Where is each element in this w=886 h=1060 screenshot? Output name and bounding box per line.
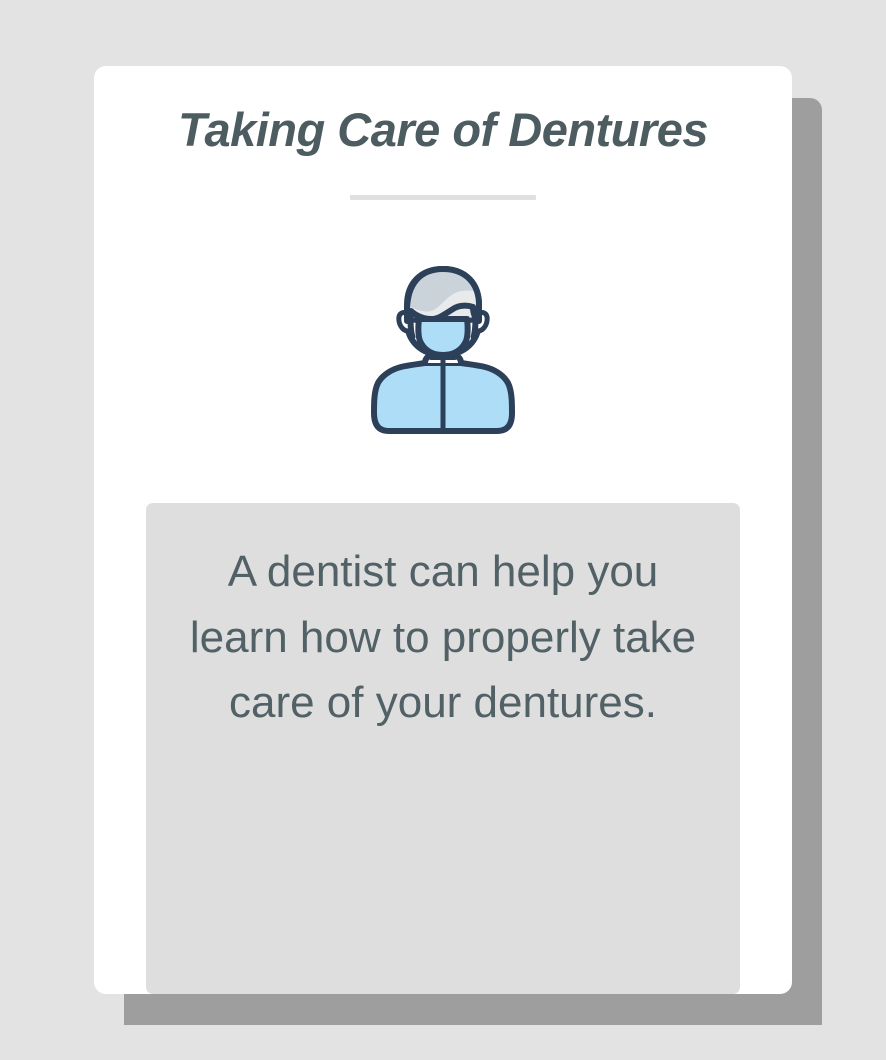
dentist-with-face-mask-icon [367, 261, 519, 441]
content-card: Taking Care of Dentures [94, 66, 792, 994]
message-text: A dentist can help you learn how to prop… [180, 539, 706, 736]
slide-stage: Taking Care of Dentures [0, 0, 886, 1060]
title-divider [350, 195, 536, 200]
page-title: Taking Care of Dentures [94, 104, 792, 156]
message-box: A dentist can help you learn how to prop… [146, 503, 740, 994]
illustration-container [94, 261, 792, 441]
